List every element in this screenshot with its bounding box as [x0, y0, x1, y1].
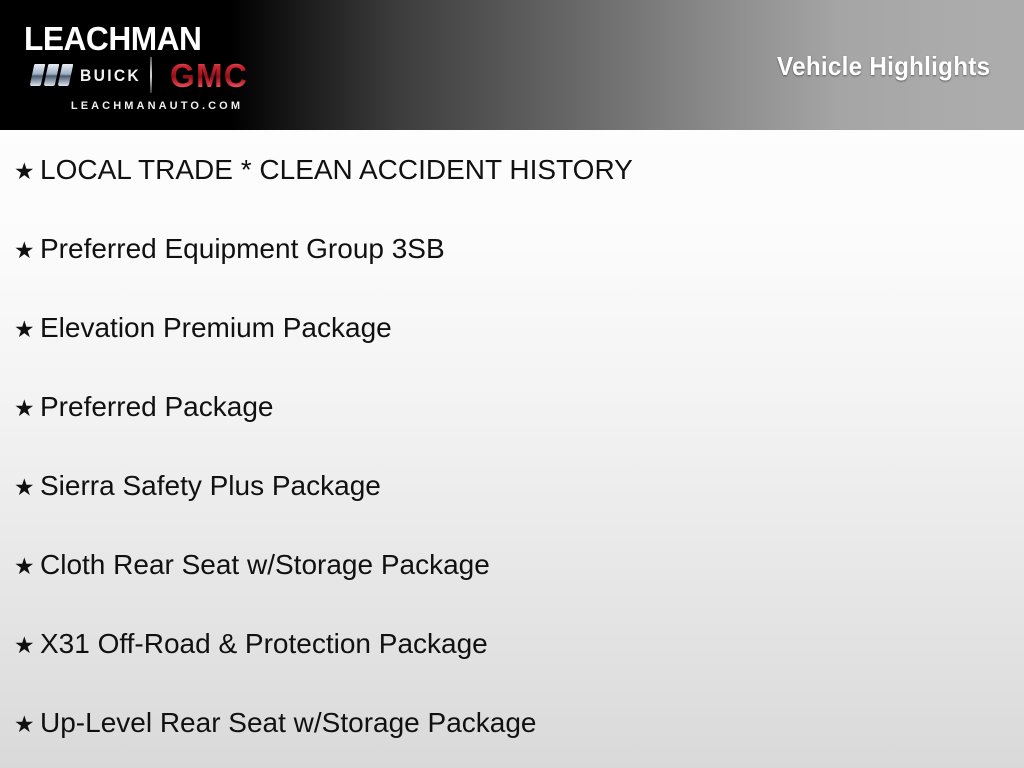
dealer-website-url: LEACHMANAUTO.COM	[24, 99, 290, 113]
page-title: Vehicle Highlights	[777, 51, 990, 81]
highlight-label: Preferred Package	[40, 367, 273, 446]
star-icon: ★	[14, 606, 40, 685]
list-item: ★Up-Level Rear Seat w/Storage Package	[0, 683, 1024, 762]
page-header: LEACHMAN BUICK GMC GMC LEACHMANAUTO.COM …	[0, 0, 1024, 130]
vehicle-highlights-page: LEACHMAN BUICK GMC GMC LEACHMANAUTO.COM …	[0, 0, 1024, 768]
star-icon: ★	[14, 685, 40, 764]
highlight-label: Cloth Rear Seat w/Storage Package	[40, 525, 490, 604]
brand-divider	[150, 57, 152, 93]
star-icon: ★	[14, 369, 40, 448]
star-icon: ★	[14, 132, 40, 211]
list-item: ★X31 Off-Road & Protection Package	[0, 604, 1024, 683]
star-icon: ★	[14, 211, 40, 290]
list-item: ★LOCAL TRADE * CLEAN ACCIDENT HISTORY	[0, 130, 1024, 209]
dealer-wordmark: LEACHMAN	[24, 9, 277, 59]
highlight-label: Elevation Premium Package	[40, 288, 392, 367]
highlight-label: Preferred Equipment Group 3SB	[40, 209, 445, 288]
buick-brand-label: BUICK	[80, 66, 141, 86]
star-icon: ★	[14, 527, 40, 606]
list-item: ★Cloth Rear Seat w/Storage Package	[0, 525, 1024, 604]
gmc-brand-label: GMC	[170, 58, 248, 94]
vehicle-highlights-list: ★LOCAL TRADE * CLEAN ACCIDENT HISTORY★Pr…	[0, 130, 1024, 762]
highlight-label: LOCAL TRADE * CLEAN ACCIDENT HISTORY	[40, 130, 633, 209]
highlight-label: Sierra Safety Plus Package	[40, 446, 381, 525]
highlight-label: Up-Level Rear Seat w/Storage Package	[40, 683, 537, 762]
star-icon: ★	[14, 448, 40, 527]
brand-row: BUICK GMC GMC	[24, 56, 290, 96]
buick-tri-shield-icon	[32, 64, 72, 86]
dealer-logo[interactable]: LEACHMAN BUICK GMC GMC LEACHMANAUTO.COM	[0, 0, 310, 130]
list-item: ★Sierra Safety Plus Package	[0, 446, 1024, 525]
highlights-panel: ★LOCAL TRADE * CLEAN ACCIDENT HISTORY★Pr…	[0, 130, 1024, 768]
list-item: ★Preferred Equipment Group 3SB	[0, 209, 1024, 288]
list-item: ★Elevation Premium Package	[0, 288, 1024, 367]
list-item: ★Preferred Package	[0, 367, 1024, 446]
star-icon: ★	[14, 290, 40, 369]
highlight-label: X31 Off-Road & Protection Package	[40, 604, 488, 683]
